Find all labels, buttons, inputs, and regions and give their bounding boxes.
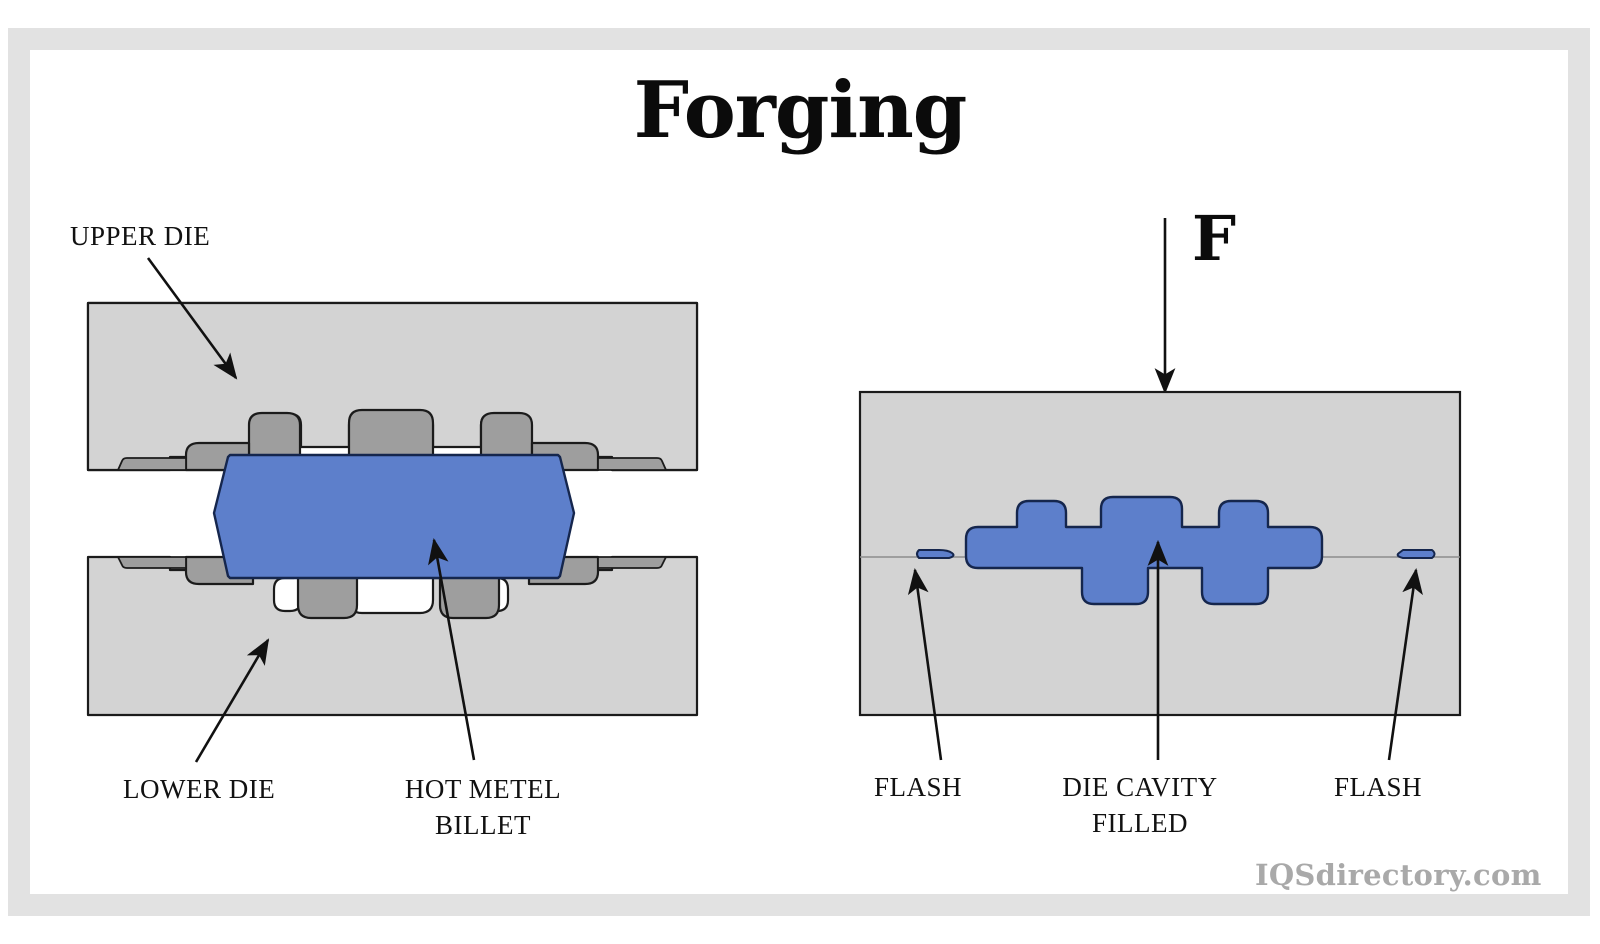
lower-die-block (88, 557, 697, 715)
hot-metal-billet (214, 455, 574, 578)
label-die-cavity-filled-line1: DIE CAVITY (1062, 772, 1217, 802)
label-flash-left: FLASH (874, 772, 962, 802)
label-hot-metal-billet-line2: BILLET (435, 810, 531, 840)
label-die-cavity-filled-line2: FILLED (1092, 808, 1188, 838)
lower-die-flash-groove-left (118, 557, 186, 568)
label-upper-die: UPPER DIE (70, 221, 210, 251)
label-lower-die: LOWER DIE (123, 774, 275, 804)
forging-diagram-page: Forging (0, 0, 1600, 944)
upper-die-flash-groove-right (598, 458, 666, 470)
flash-left-tab (917, 550, 953, 558)
watermark-iqsdirectory: IQSdirectory.com (1255, 858, 1542, 892)
upper-die-flash-groove-left (118, 458, 186, 470)
label-flash-right: FLASH (1334, 772, 1422, 802)
right-diagram-group: F FLASH DIE CAVITY FILLED FLASH (860, 202, 1460, 838)
diagram-stage: UPPER DIE LOWER DIE HOT METEL BILLET F (0, 0, 1600, 944)
label-hot-metal-billet-line1: HOT METEL (405, 774, 561, 804)
flash-right-tab (1398, 550, 1435, 558)
left-diagram-group: UPPER DIE LOWER DIE HOT METEL BILLET (70, 221, 697, 840)
force-label-f: F (1192, 202, 1236, 275)
lower-die-flash-groove-right (598, 557, 666, 568)
